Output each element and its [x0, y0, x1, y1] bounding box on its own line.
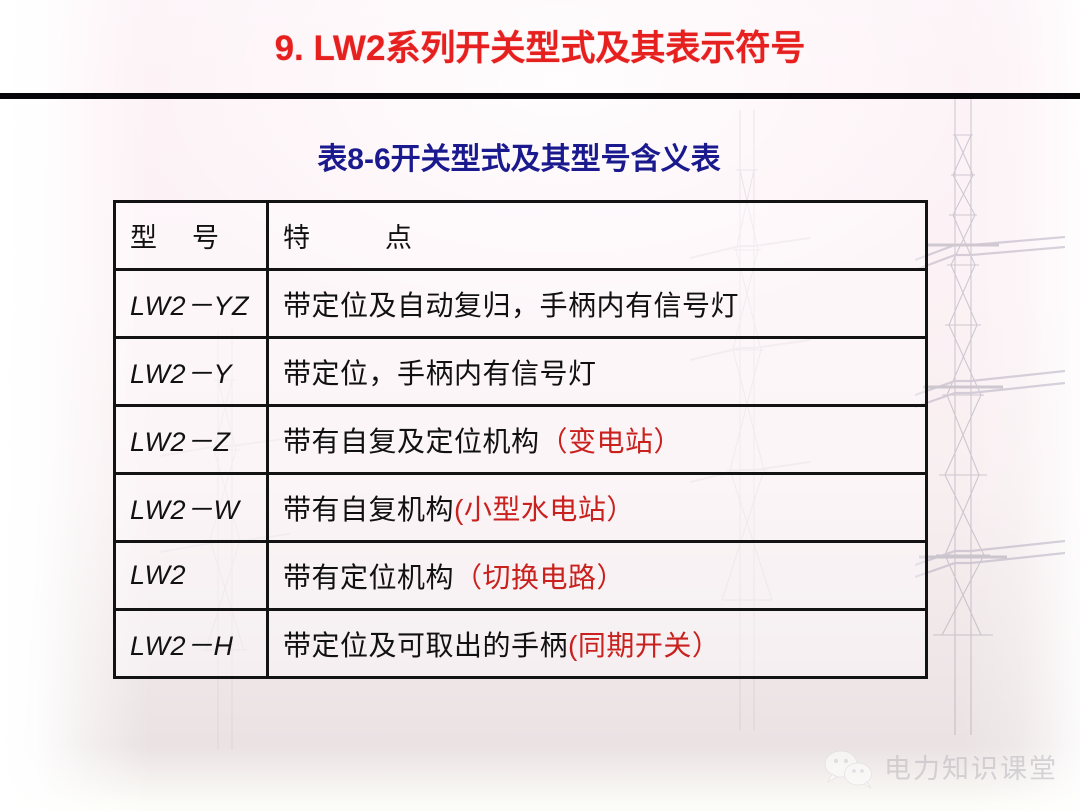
- model-label: LW2－W: [130, 495, 240, 525]
- table-row: LW2－H 带定位及可取出的手柄(同期开关）: [115, 610, 927, 678]
- table-row: LW2－Z 带有自复及定位机构（变电站）: [115, 406, 927, 474]
- cell-feature: 带有定位机构（切换电路）: [268, 542, 927, 610]
- feature-plain: 带有自复机构: [283, 494, 454, 525]
- channel-watermark: 电力知识课堂: [823, 749, 1058, 789]
- feature-highlight: (同期开关）: [568, 630, 720, 661]
- cell-feature: 带定位及自动复归，手柄内有信号灯: [268, 270, 927, 338]
- feature-plain: 带定位及可取出的手柄: [283, 630, 568, 661]
- cell-feature: 带有自复及定位机构（变电站）: [268, 406, 927, 474]
- title-bar: 9. LW2系列开关型式及其表示符号: [0, 0, 1080, 94]
- feature-highlight: （变电站）: [540, 426, 683, 457]
- header-model-char-1: 型: [130, 223, 158, 253]
- watermark-label: 电力知识课堂: [884, 754, 1058, 784]
- cell-model: LW2－Y: [115, 338, 268, 406]
- header-model-char-2: 号: [192, 223, 220, 253]
- page-title: 9. LW2系列开关型式及其表示符号: [0, 26, 1080, 72]
- model-label: LW2－Y: [130, 359, 232, 389]
- slide-canvas: 9. LW2系列开关型式及其表示符号 表8-6开关型式及其型号含义表 型号 特点…: [0, 0, 1080, 811]
- cell-model: LW2: [115, 542, 268, 610]
- table-row: LW2－Y 带定位，手柄内有信号灯: [115, 338, 927, 406]
- wechat-icon: [823, 749, 875, 789]
- cell-model: LW2－H: [115, 610, 268, 678]
- header-cell-feature: 特点: [268, 202, 927, 270]
- feature-text: 带有自复机构(小型水电站）: [283, 494, 635, 525]
- table-row: LW2－YZ 带定位及自动复归，手柄内有信号灯: [115, 270, 927, 338]
- model-label: LW2－YZ: [130, 291, 249, 321]
- cell-feature: 带有自复机构(小型水电站）: [268, 474, 927, 542]
- header-feature-char-2: 点: [385, 223, 413, 253]
- right-edge-glow: [960, 0, 1080, 811]
- feature-highlight: (小型水电站）: [454, 494, 635, 525]
- table-row: LW2－W 带有自复机构(小型水电站）: [115, 474, 927, 542]
- transmission-tower-watermark: [915, 95, 1065, 735]
- feature-plain: 带有自复及定位机构: [283, 426, 540, 457]
- cell-model: LW2－W: [115, 474, 268, 542]
- cell-model: LW2－YZ: [115, 270, 268, 338]
- feature-plain: 带定位及自动复归，手柄内有信号灯: [283, 290, 739, 321]
- model-label: LW2－Z: [130, 427, 231, 457]
- feature-highlight: （切换电路）: [454, 562, 625, 593]
- table-caption: 表8-6开关型式及其型号含义表: [113, 140, 925, 180]
- feature-plain: 带有定位机构: [283, 562, 454, 593]
- cell-model: LW2－Z: [115, 406, 268, 474]
- feature-text: 带定位及自动复归，手柄内有信号灯: [283, 290, 739, 321]
- header-cell-model: 型号: [115, 202, 268, 270]
- feature-text: 带定位，手柄内有信号灯: [283, 358, 597, 389]
- cell-feature: 带定位及可取出的手柄(同期开关）: [268, 610, 927, 678]
- table-header-row: 型号 特点: [115, 202, 927, 270]
- model-label: LW2: [130, 560, 186, 590]
- cell-feature: 带定位，手柄内有信号灯: [268, 338, 927, 406]
- title-divider-rule: [0, 93, 1080, 99]
- feature-text: 带有自复及定位机构（变电站）: [283, 426, 682, 457]
- switch-type-table: 型号 特点 LW2－YZ 带定位及自动复归，手柄内有信号灯 LW2－Y 带定位，…: [113, 200, 928, 679]
- header-feature-char-1: 特: [283, 223, 311, 253]
- feature-text: 带有定位机构（切换电路）: [283, 562, 625, 593]
- table-row: LW2 带有定位机构（切换电路）: [115, 542, 927, 610]
- feature-plain: 带定位，手柄内有信号灯: [283, 358, 597, 389]
- model-label: LW2－H: [130, 631, 234, 661]
- feature-text: 带定位及可取出的手柄(同期开关）: [283, 630, 720, 661]
